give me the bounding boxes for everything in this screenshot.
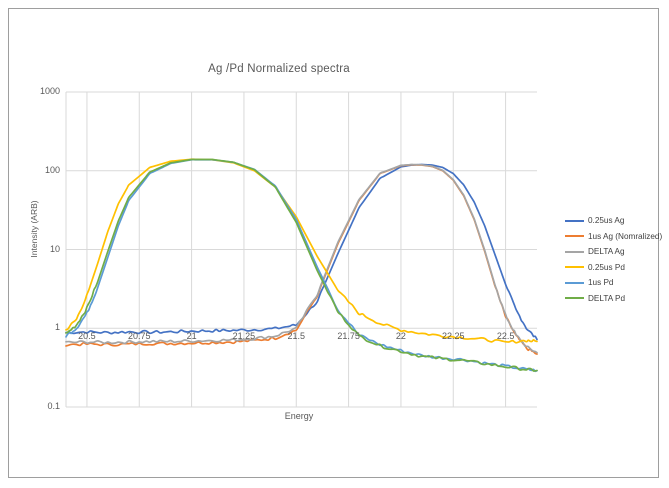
series-line-1 [66,165,537,354]
legend-item-label: 1us Pd [588,278,614,287]
legend-item-2[interactable]: DELTA Ag [565,244,661,260]
plot-area [9,9,660,479]
legend-item-label: 0.25us Pd [588,263,625,272]
legend-item-4[interactable]: 1us Pd [565,275,661,291]
chart-container: Ag /Pd Normalized spectra 10001001010.1 … [8,8,659,478]
x-axis-tick-label: 20.5 [59,331,115,341]
legend-color-swatch [565,220,584,222]
y-axis-tick-label: 1 [16,322,60,332]
x-axis-tick-label: 20.75 [111,331,167,341]
legend-color-swatch [565,297,584,299]
legend-item-label: DELTA Ag [588,247,625,256]
legend-item-0[interactable]: 0.25us Ag [565,213,661,229]
y-axis-tick-label: 1000 [16,86,60,96]
legend-item-1[interactable]: 1us Ag (Nomralized) [565,229,661,245]
legend-color-swatch [565,282,584,284]
legend-color-swatch [565,266,584,268]
series-line-2 [66,165,537,353]
y-axis-tick-label: 100 [16,165,60,175]
x-axis-tick-label: 21.5 [268,331,324,341]
x-axis-tick-label: 22 [373,331,429,341]
legend-item-3[interactable]: 0.25us Pd [565,260,661,276]
y-axis-title: Intensity (ARB) [29,179,39,279]
legend-color-swatch [565,251,584,253]
legend-item-label: 1us Ag (Nomralized) [588,232,662,241]
x-axis-title: Energy [64,411,534,421]
x-axis-tick-label: 22.25 [425,331,481,341]
x-axis-tick-label: 21 [164,331,220,341]
chart-legend: 0.25us Ag1us Ag (Nomralized)DELTA Ag0.25… [565,213,661,306]
x-axis-tick-label: 21.75 [321,331,377,341]
x-axis-tick-label: 22.5 [478,331,534,341]
legend-color-swatch [565,235,584,237]
y-axis-tick-label: 0.1 [16,401,60,411]
legend-item-5[interactable]: DELTA Pd [565,291,661,307]
x-axis-tick-label: 21.25 [216,331,272,341]
legend-item-label: DELTA Pd [588,294,625,303]
legend-item-label: 0.25us Ag [588,216,624,225]
